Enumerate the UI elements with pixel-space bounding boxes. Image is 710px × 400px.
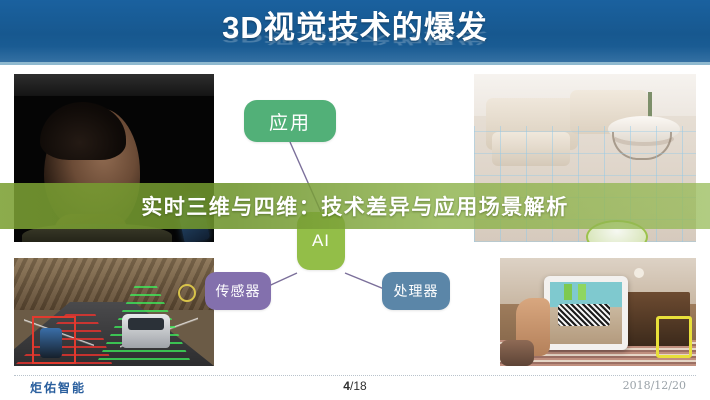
diagram-node-sensor-label: 传感器 [216, 281, 261, 301]
photo-ar-tablet-screen [550, 282, 622, 344]
diagram-node-processor[interactable]: 处理器 [382, 272, 450, 310]
diagram-node-ai-label: AI [312, 231, 330, 251]
slide-header: 3D视觉技术的爆发 3D视觉技术的爆发 [0, 0, 710, 62]
photo-adas-road-sign [178, 284, 196, 302]
header-sheen [0, 46, 710, 62]
photo-adas-detection-box [32, 316, 76, 364]
photo-ar-chair [656, 316, 692, 358]
diagram-node-processor-label: 处理器 [394, 281, 439, 301]
photo-autonomous-driving [14, 258, 214, 366]
footer-page-total: 18 [353, 379, 366, 393]
photo-face-backdrop [14, 74, 214, 96]
photo-ar-tablet [500, 258, 696, 366]
edge-ai-to-processor [345, 273, 384, 289]
header-underline [0, 62, 710, 65]
diagram-node-application[interactable]: 应用 [244, 100, 336, 142]
slide-title: 3D视觉技术的爆发 [0, 9, 710, 47]
overlay-banner-text: 实时三维与四维：技术差异与应用场景解析 [0, 183, 710, 229]
overlay-banner: 实时三维与四维：技术差异与应用场景解析 [0, 183, 710, 229]
footer-date: 2018/12/20 [623, 379, 686, 392]
photo-ar-lamp [634, 268, 644, 278]
footer-page-number: 4/18 [0, 379, 710, 393]
photo-ar-sleeve [500, 340, 534, 366]
diagram-node-sensor[interactable]: 传感器 [205, 272, 271, 310]
diagram-node-application-label: 应用 [269, 108, 311, 135]
footer-page-current: 4 [343, 379, 350, 393]
presentation-slide: 3D视觉技术的爆发 3D视觉技术的爆发 [0, 0, 710, 400]
photo-ar-virtual-decor-2 [578, 284, 586, 300]
photo-adas-car-window [128, 318, 164, 330]
slide-footer: 炬佑智能 4/18 2018/12/20 [0, 379, 710, 400]
photo-ar-virtual-sofa [558, 304, 610, 326]
photo-room-vase [648, 92, 652, 118]
footer-divider [14, 375, 696, 377]
photo-ar-virtual-decor-1 [564, 284, 572, 300]
